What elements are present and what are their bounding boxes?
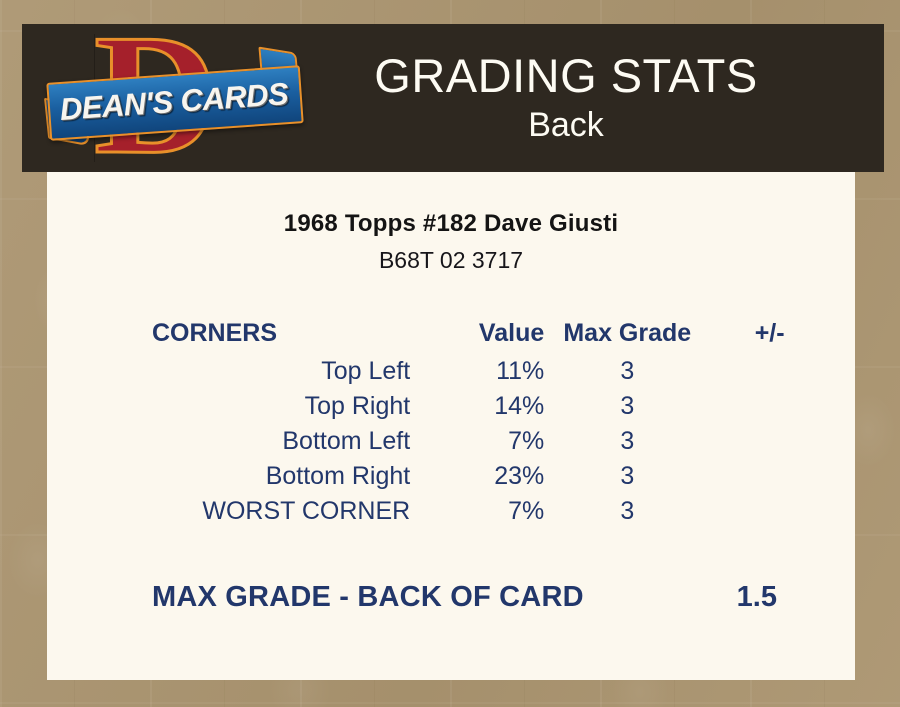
row-max-grade: 3 [544,494,710,529]
table-header: CORNERS Value Max Grade +/- [47,316,855,354]
row-plus-minus [710,459,855,494]
row-plus-minus [710,494,855,529]
content-panel: 1968 Topps #182 Dave Giusti B68T 02 3717… [47,172,855,680]
page-title: GRADING STATS [300,49,832,103]
row-label: Top Right [47,389,432,424]
row-max-grade: 3 [544,389,710,424]
corners-stats-table: CORNERS Value Max Grade +/- Top Left 11%… [47,316,855,529]
table-body: Top Left 11% 3 Top Right 14% 3 Bottom Le… [47,354,855,529]
grading-stats-page: D DEAN'S CARDS GRADING STATS Back 1968 T… [0,0,900,707]
table-row-worst-corner: WORST CORNER 7% 3 [47,494,855,529]
row-plus-minus [710,424,855,459]
row-value: 7% [432,424,544,459]
row-max-grade: 3 [544,424,710,459]
header-titles: GRADING STATS Back [300,49,884,147]
card-name: 1968 Topps #182 Dave Giusti [47,210,855,238]
row-label: Bottom Right [47,459,432,494]
row-plus-minus [710,389,855,424]
row-value: 11% [432,354,544,389]
column-header-corners: CORNERS [47,316,432,354]
column-header-value: Value [432,316,544,354]
deans-cards-logo: D DEAN'S CARDS [46,28,300,168]
row-plus-minus [710,354,855,389]
table-row: Bottom Right 23% 3 [47,459,855,494]
table-header-row: CORNERS Value Max Grade +/- [47,316,855,354]
row-value: 7% [432,494,544,529]
table-row: Top Left 11% 3 [47,354,855,389]
final-grade-value: 1.5 [737,581,813,614]
row-label: Top Left [47,354,432,389]
row-max-grade: 3 [544,459,710,494]
row-value: 23% [432,459,544,494]
final-grade-label: MAX GRADE - BACK OF CARD [152,581,584,614]
row-label: Bottom Left [47,424,432,459]
card-code: B68T 02 3717 [47,247,855,274]
row-value: 14% [432,389,544,424]
row-max-grade: 3 [544,354,710,389]
header-bar: D DEAN'S CARDS GRADING STATS Back [22,24,884,172]
table-row: Bottom Left 7% 3 [47,424,855,459]
page-subtitle: Back [300,103,832,147]
table-row: Top Right 14% 3 [47,389,855,424]
column-header-max-grade: Max Grade [544,316,710,354]
column-header-plus-minus: +/- [710,316,855,354]
final-grade-row: MAX GRADE - BACK OF CARD 1.5 [47,581,855,614]
row-label: WORST CORNER [47,494,432,529]
